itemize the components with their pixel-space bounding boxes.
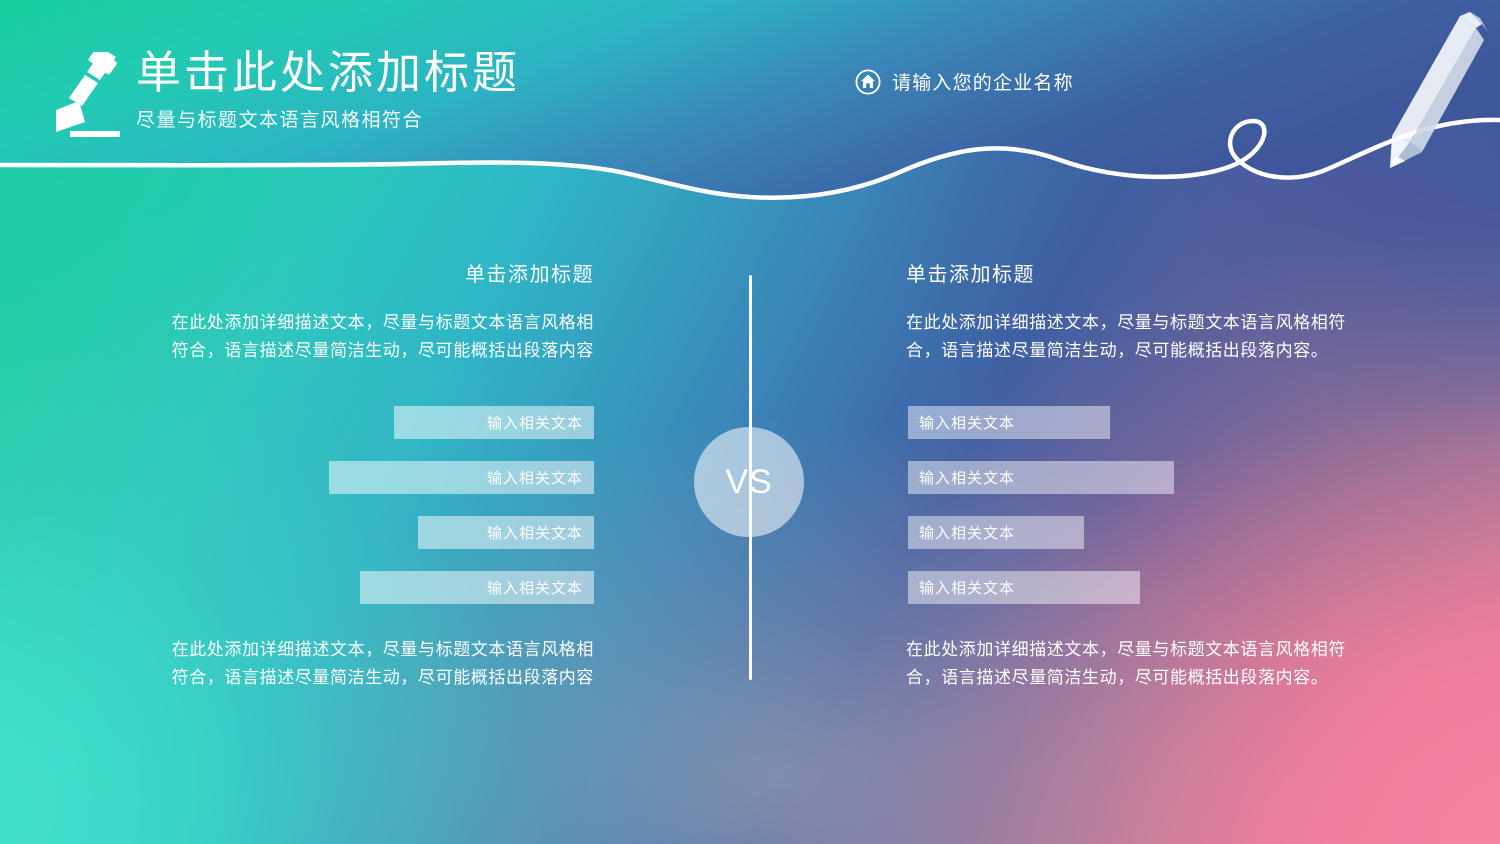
right-bar-4-label: 输入相关文本: [919, 577, 1015, 598]
right-bar-2[interactable]: 输入相关文本: [908, 461, 1174, 494]
right-bar-3[interactable]: 输入相关文本: [908, 516, 1084, 549]
left-column-title: 单击添加标题: [160, 258, 594, 287]
pencil-edit-icon: [52, 52, 126, 140]
page-subtitle: 尽量与标题文本语言风格相符合: [136, 105, 520, 132]
left-bar-3[interactable]: 输入相关文本: [418, 516, 594, 549]
right-bar-4[interactable]: 输入相关文本: [908, 571, 1140, 604]
left-bar-4-label: 输入相关文本: [487, 577, 583, 598]
right-bar-1[interactable]: 输入相关文本: [908, 406, 1110, 439]
right-bar-2-label: 输入相关文本: [919, 467, 1015, 488]
right-column-description: 在此处添加详细描述文本，尽量与标题文本语言风格相符合，语言描述尽量简洁生动，尽可…: [906, 309, 1346, 364]
left-bar-2-label: 输入相关文本: [487, 467, 583, 488]
right-column-title: 单击添加标题: [906, 258, 1346, 287]
company-name-block: 请输入您的企业名称: [855, 68, 1074, 95]
right-column: 单击添加标题 在此处添加详细描述文本，尽量与标题文本语言风格相符合，语言描述尽量…: [906, 258, 1346, 364]
right-column-footer: 在此处添加详细描述文本，尽量与标题文本语言风格相符合，语言描述尽量简洁生动，尽可…: [906, 636, 1346, 691]
left-bar-1[interactable]: 输入相关文本: [394, 406, 594, 439]
vs-badge: VS: [694, 427, 804, 537]
left-bar-3-label: 输入相关文本: [487, 522, 583, 543]
vs-label: VS: [725, 463, 772, 502]
left-bar-1-label: 输入相关文本: [487, 412, 583, 433]
left-bar-2[interactable]: 输入相关文本: [329, 461, 594, 494]
slide-canvas: 单击此处添加标题 尽量与标题文本语言风格相符合 请输入您的企业名称 单击添加标题…: [0, 0, 1500, 844]
left-bar-list: 输入相关文本 输入相关文本 输入相关文本 输入相关文本: [300, 406, 594, 626]
left-column-description: 在此处添加详细描述文本，尽量与标题文本语言风格相符合，语言描述尽量简洁生动，尽可…: [160, 309, 594, 364]
left-column-footer: 在此处添加详细描述文本，尽量与标题文本语言风格相符合，语言描述尽量简洁生动，尽可…: [160, 636, 594, 691]
right-bar-1-label: 输入相关文本: [919, 412, 1015, 433]
pencil-3d-icon: [1352, 6, 1500, 178]
right-bar-list: 输入相关文本 输入相关文本 输入相关文本 输入相关文本: [908, 406, 1208, 626]
home-circle-icon: [855, 69, 881, 95]
right-bar-3-label: 输入相关文本: [919, 522, 1015, 543]
left-column: 单击添加标题 在此处添加详细描述文本，尽量与标题文本语言风格相符合，语言描述尽量…: [160, 258, 594, 364]
company-name-text: 请输入您的企业名称: [892, 68, 1074, 95]
title-block: 单击此处添加标题 尽量与标题文本语言风格相符合: [136, 48, 520, 132]
left-bar-4[interactable]: 输入相关文本: [360, 571, 594, 604]
page-title: 单击此处添加标题: [136, 48, 520, 98]
